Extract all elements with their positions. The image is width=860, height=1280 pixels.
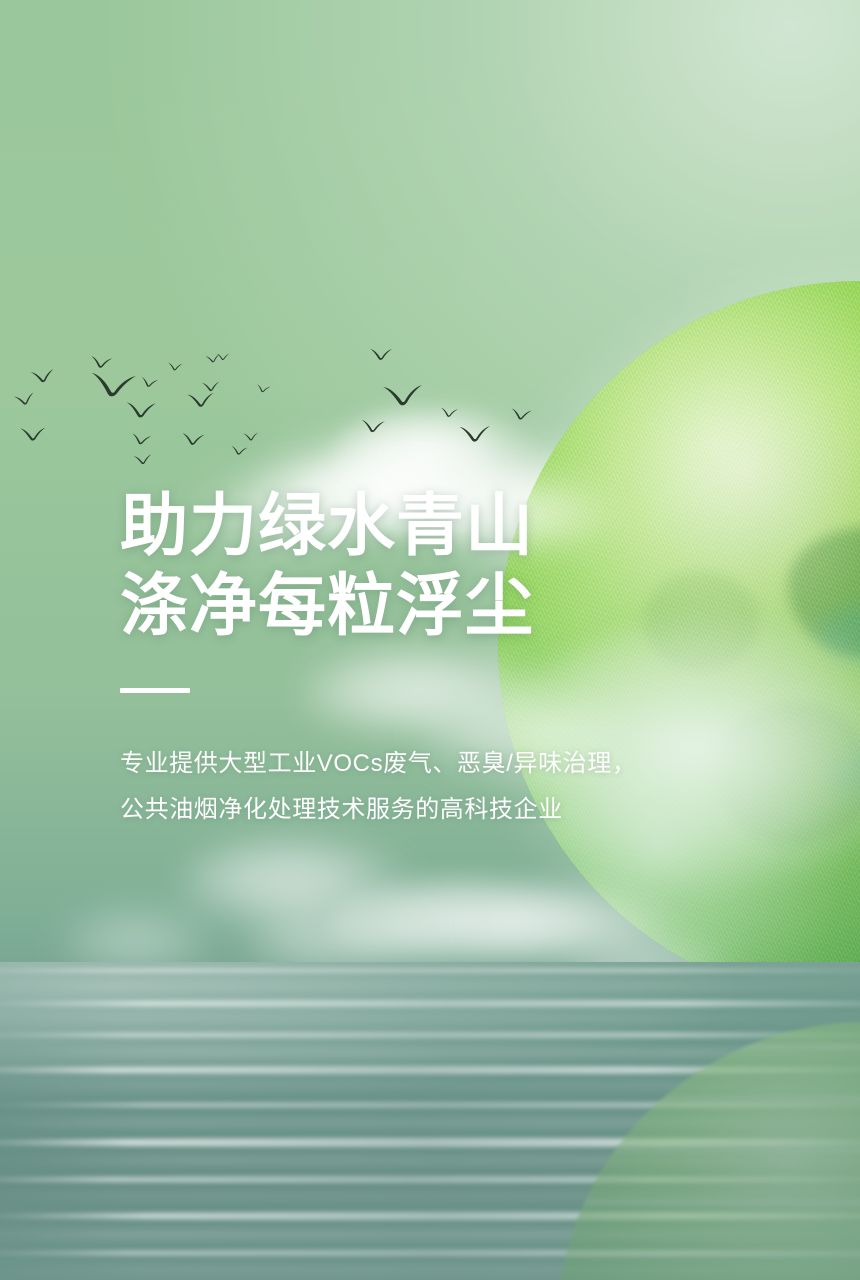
subtitle-line-2: 公共油烟净化处理技术服务的高科技企业 [120,789,680,830]
bird-icon [243,432,260,444]
bird-icon [216,353,230,362]
wave-line [0,1000,860,1007]
headline-line-2: 涤净每粒浮尘 [120,566,680,646]
wave-line [0,984,860,988]
cloud [470,880,700,975]
continent-patch [715,701,860,846]
subtitle-line-1: 专业提供大型工业VOCs废气、恶臭/异味治理， [120,743,680,784]
bird-icon [458,424,492,447]
bird-icon [167,362,183,374]
bird-icon [89,355,113,373]
bird-icon [201,380,221,394]
bird-icon [509,407,533,424]
ocean-patch [817,600,860,672]
bird-icon [186,391,216,412]
bird-icon [381,382,425,413]
headline-block: 助力绿水青山 涤净每粒浮尘 专业提供大型工业VOCs废气、恶臭/异味治理， 公共… [120,486,680,830]
bird-icon [230,445,249,459]
headline-divider [120,688,190,693]
wave-line [0,1016,860,1020]
bird-icon [88,370,138,406]
bird-icon [181,432,206,450]
bird-icon [13,391,38,410]
headline-line-1: 助力绿水青山 [120,486,680,566]
reflection-tint [556,1022,860,1280]
bird-icon [125,400,158,423]
bird-icon [369,347,393,363]
continent-patch [788,527,860,657]
ocean-patch [831,744,860,802]
cloud [180,830,440,940]
bird-icon [133,453,154,468]
bird-icon [255,383,271,395]
bird-icon [130,432,152,449]
bird-icon [360,418,386,436]
globe-water-reflection [556,1022,860,1280]
eco-banner: 助力绿水青山 涤净每粒浮尘 专业提供大型工业VOCs废气、恶臭/异味治理， 公共… [0,0,860,1280]
wave-line [0,968,860,973]
flying-birds-flock [0,330,470,460]
bird-icon [19,426,47,446]
bird-icon [139,376,159,391]
bird-icon [29,367,56,387]
bird-icon [439,407,458,421]
bird-icon [205,353,222,366]
bird-subflock [230,330,470,460]
